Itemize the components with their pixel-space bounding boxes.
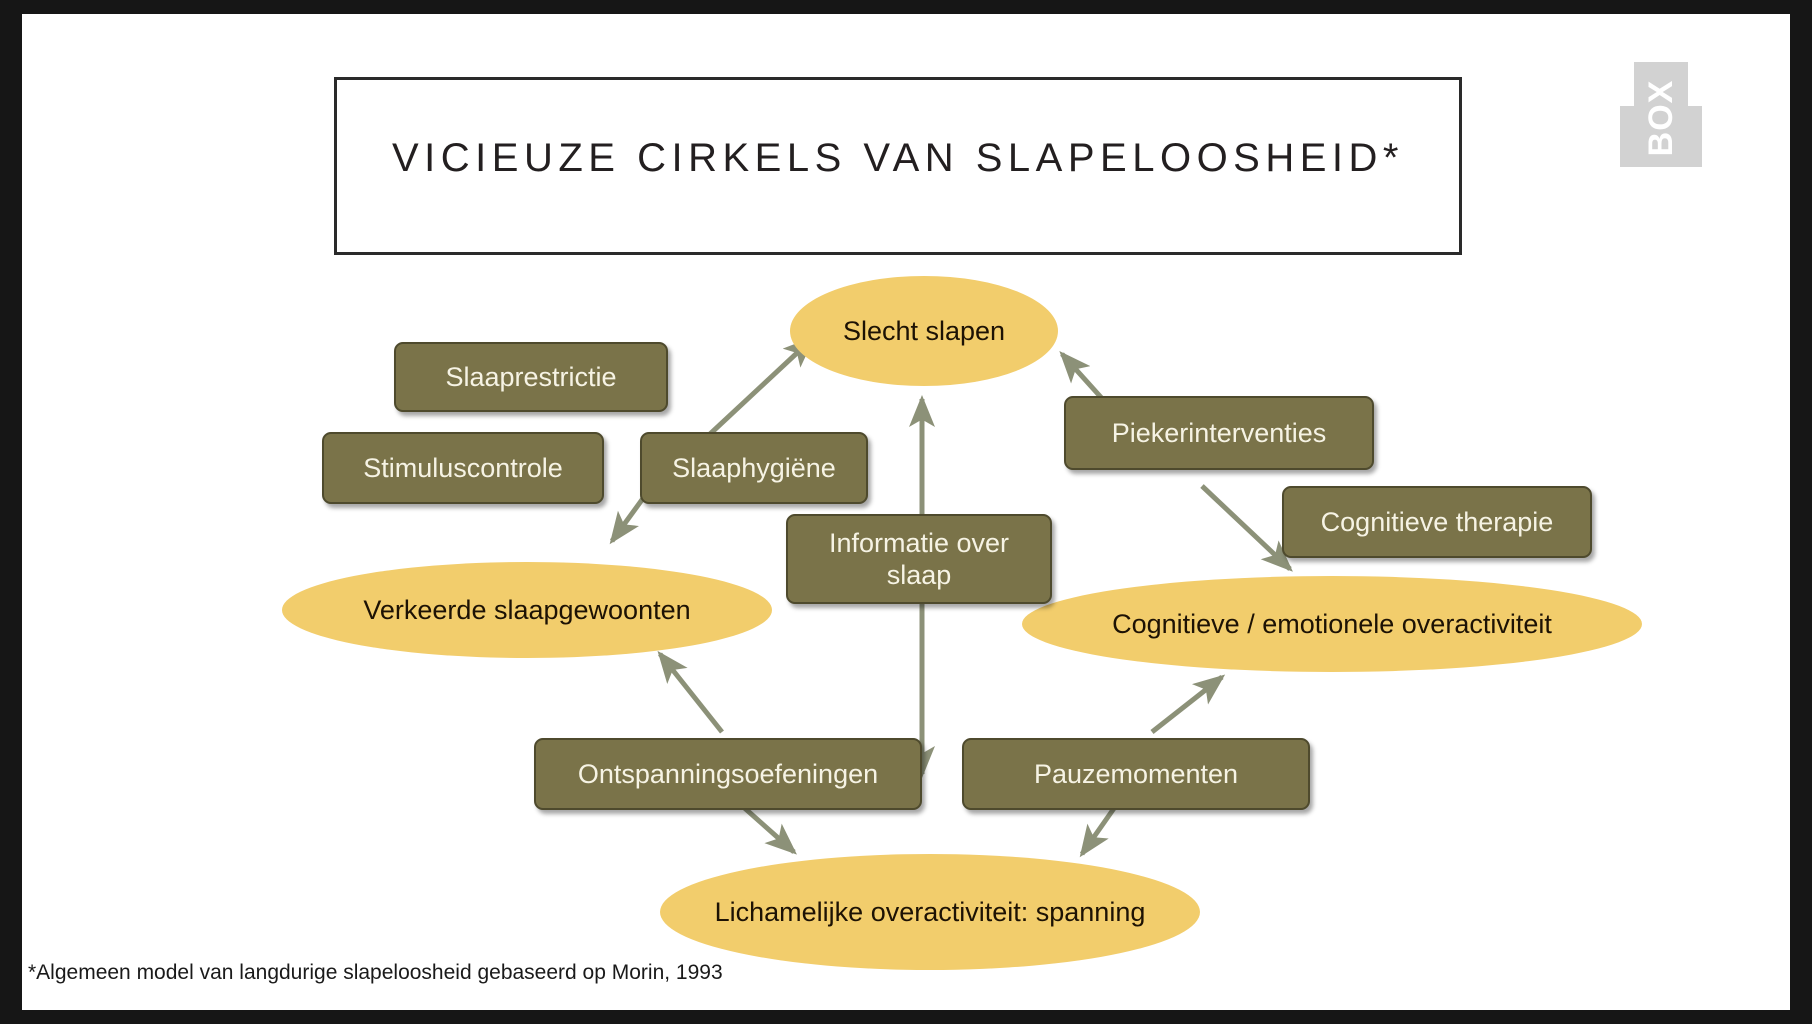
node-label: Pauzemomenten bbox=[1034, 758, 1238, 790]
node-cognitieve-emotionele-overactiviteit[interactable]: Cognitieve / emotionele overactiviteit bbox=[1022, 576, 1642, 672]
node-pauzemomenten[interactable]: Pauzemomenten bbox=[962, 738, 1310, 810]
node-label: Cognitieve / emotionele overactiviteit bbox=[1112, 608, 1552, 641]
node-label: Lichamelijke overactiviteit: spanning bbox=[715, 896, 1146, 929]
node-lichamelijke-overactiviteit[interactable]: Lichamelijke overactiviteit: spanning bbox=[660, 854, 1200, 970]
slide-canvas: VICIEUZE CIRKELS VAN SLAPELOOSHEID* BOX bbox=[22, 14, 1790, 1010]
node-cognitieve-therapie[interactable]: Cognitieve therapie bbox=[1282, 486, 1592, 558]
node-label: Slaaprestrictie bbox=[445, 361, 616, 393]
slide-letterbox-frame: VICIEUZE CIRKELS VAN SLAPELOOSHEID* BOX bbox=[0, 0, 1812, 1024]
footnote: *Algemeen model van langdurige slapeloos… bbox=[28, 961, 723, 985]
arrow-ontspanningsoefeningen-to-verkeerde-slaapgewoonten bbox=[660, 654, 722, 732]
node-slaaprestrictie[interactable]: Slaaprestrictie bbox=[394, 342, 668, 412]
arrow-slaaphygiene-to-slecht-slapen bbox=[710, 339, 812, 434]
logo-notch-left bbox=[1620, 62, 1634, 106]
logo-text: BOX bbox=[1644, 62, 1678, 174]
arrow-pauzemomenten-to-lichamelijke-overactiviteit bbox=[1082, 804, 1117, 854]
title-box: VICIEUZE CIRKELS VAN SLAPELOOSHEID* bbox=[334, 77, 1462, 255]
logo-notch-right bbox=[1688, 62, 1702, 106]
node-label: Piekerinterventies bbox=[1112, 417, 1327, 449]
node-label: Ontspanningsoefeningen bbox=[578, 758, 878, 790]
node-label: Slaaphygiëne bbox=[672, 452, 836, 484]
node-stimuluscontrole[interactable]: Stimuluscontrole bbox=[322, 432, 604, 504]
arrow-ontspanningsoefeningen-to-lichamelijke-overactiviteit bbox=[740, 804, 794, 852]
page-title: VICIEUZE CIRKELS VAN SLAPELOOSHEID* bbox=[337, 136, 1459, 181]
node-slecht-slapen[interactable]: Slecht slapen bbox=[790, 276, 1058, 386]
node-informatie-over-slaap[interactable]: Informatie over slaap bbox=[786, 514, 1052, 604]
arrow-cognitieve-therapie-to-cognitieve-overactiviteit bbox=[1202, 486, 1290, 569]
node-label: Stimuluscontrole bbox=[363, 452, 563, 484]
node-verkeerde-slaapgewoonten[interactable]: Verkeerde slaapgewoonten bbox=[282, 562, 772, 658]
node-ontspanningsoefeningen[interactable]: Ontspanningsoefeningen bbox=[534, 738, 922, 810]
node-label: Informatie over slaap bbox=[802, 527, 1036, 592]
arrow-pauzemomenten-to-cognitieve-overactiviteit bbox=[1152, 677, 1222, 732]
node-label: Cognitieve therapie bbox=[1321, 506, 1554, 538]
node-slaaphygiene[interactable]: Slaaphygiëne bbox=[640, 432, 868, 504]
node-piekerinterventies[interactable]: Piekerinterventies bbox=[1064, 396, 1374, 470]
box-logo: BOX bbox=[1620, 62, 1702, 167]
node-label: Slecht slapen bbox=[843, 315, 1005, 348]
node-label: Verkeerde slaapgewoonten bbox=[363, 594, 690, 627]
